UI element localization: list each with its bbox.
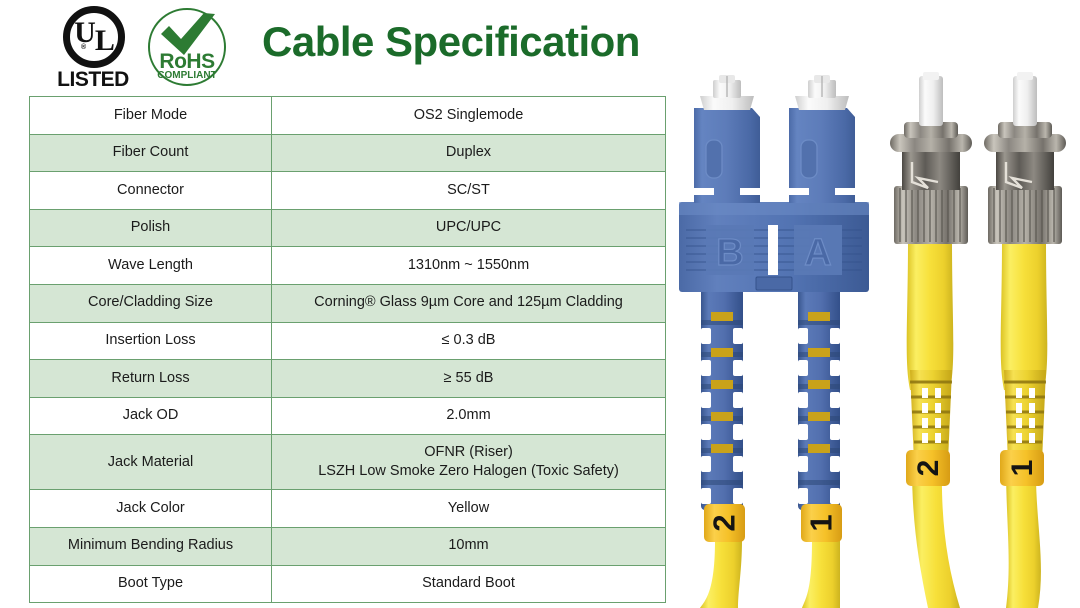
spec-label: Jack OD xyxy=(30,397,272,435)
table-row: Wave Length1310nm ~ 1550nm xyxy=(30,247,666,285)
svg-text:1: 1 xyxy=(1006,460,1039,477)
spec-label: Boot Type xyxy=(30,565,272,603)
ul-listed-logo-icon: UL ® LISTED xyxy=(47,6,139,88)
svg-text:2: 2 xyxy=(912,460,945,477)
spec-label: Wave Length xyxy=(30,247,272,285)
sc-duplex-connector: B A xyxy=(679,75,869,608)
fiber-patch-cable-illustration: B A xyxy=(660,70,1080,608)
rohs-compliant-logo-icon: RoHS COMPLIANT xyxy=(143,6,231,88)
spec-value: Corning® Glass 9µm Core and 125µm Claddi… xyxy=(272,284,666,322)
spec-value: 2.0mm xyxy=(272,397,666,435)
spec-label: Fiber Count xyxy=(30,134,272,172)
sc-plug-left xyxy=(694,75,760,203)
spec-label: Jack Color xyxy=(30,490,272,528)
spec-label: Insertion Loss xyxy=(30,322,272,360)
sc-marker-1: 1 xyxy=(801,504,842,542)
table-row: Fiber ModeOS2 Singlemode xyxy=(30,97,666,135)
st-connector-left xyxy=(890,72,972,608)
spec-label: Fiber Mode xyxy=(30,97,272,135)
table-row: Insertion Loss≤ 0.3 dB xyxy=(30,322,666,360)
table-row: ConnectorSC/ST xyxy=(30,172,666,210)
sc-label-a: A xyxy=(804,232,831,274)
st-connector-right xyxy=(984,72,1066,608)
cable-specification-table: Fiber ModeOS2 SinglemodeFiber CountDuple… xyxy=(29,96,666,603)
spec-label: Return Loss xyxy=(30,360,272,398)
spec-value: 10mm xyxy=(272,527,666,565)
sc-marker-2: 2 xyxy=(704,504,745,542)
st-boot-right xyxy=(1004,370,1046,462)
ul-letter-l: L xyxy=(95,24,114,58)
sc-boot-left xyxy=(701,288,743,510)
spec-value: ≥ 55 dB xyxy=(272,360,666,398)
sc-label-b: B xyxy=(716,232,743,274)
st-connector-pair: 2 1 xyxy=(890,72,1066,608)
spec-value: ≤ 0.3 dB xyxy=(272,322,666,360)
spec-label: Jack Material xyxy=(30,435,272,490)
rohs-sublabel: COMPLIANT xyxy=(143,70,231,81)
table-row: PolishUPC/UPC xyxy=(30,209,666,247)
table-row: Boot TypeStandard Boot xyxy=(30,565,666,603)
spec-value: UPC/UPC xyxy=(272,209,666,247)
spec-label: Polish xyxy=(30,209,272,247)
table-row: Fiber CountDuplex xyxy=(30,134,666,172)
sc-duplex-clip: B A xyxy=(679,202,869,292)
sc-plug-right xyxy=(789,75,855,203)
svg-text:1: 1 xyxy=(804,514,839,531)
table-row: Jack OD2.0mm xyxy=(30,397,666,435)
table-row: Minimum Bending Radius10mm xyxy=(30,527,666,565)
spec-value: Yellow xyxy=(272,490,666,528)
ul-listed-caption: LISTED xyxy=(47,68,139,92)
spec-value: SC/ST xyxy=(272,172,666,210)
st-boot-left xyxy=(910,370,952,462)
st-marker-2: 2 xyxy=(906,450,950,486)
spec-label: Core/Cladding Size xyxy=(30,284,272,322)
spec-label: Minimum Bending Radius xyxy=(30,527,272,565)
table-row: Jack ColorYellow xyxy=(30,490,666,528)
table-body: Fiber ModeOS2 SinglemodeFiber CountDuple… xyxy=(30,97,666,603)
spec-value: Duplex xyxy=(272,134,666,172)
spec-label: Connector xyxy=(30,172,272,210)
spec-value: 1310nm ~ 1550nm xyxy=(272,247,666,285)
table-row: Return Loss≥ 55 dB xyxy=(30,360,666,398)
page-root: UL ® LISTED RoHS COMPLIANT Cable Specifi… xyxy=(0,0,1080,608)
spec-value: OFNR (Riser)LSZH Low Smoke Zero Halogen … xyxy=(272,435,666,490)
spec-value: Standard Boot xyxy=(272,565,666,603)
sc-boot-right xyxy=(798,288,840,510)
table-row: Core/Cladding SizeCorning® Glass 9µm Cor… xyxy=(30,284,666,322)
spec-value: OS2 Singlemode xyxy=(272,97,666,135)
product-photo: B A xyxy=(660,70,1080,608)
svg-text:2: 2 xyxy=(707,514,742,531)
ul-monogram: UL xyxy=(63,6,125,68)
table-row: Jack MaterialOFNR (Riser)LSZH Low Smoke … xyxy=(30,435,666,490)
page-title: Cable Specification xyxy=(262,18,640,66)
st-marker-1: 1 xyxy=(1000,450,1044,486)
ul-registered-mark: ® xyxy=(81,44,86,51)
